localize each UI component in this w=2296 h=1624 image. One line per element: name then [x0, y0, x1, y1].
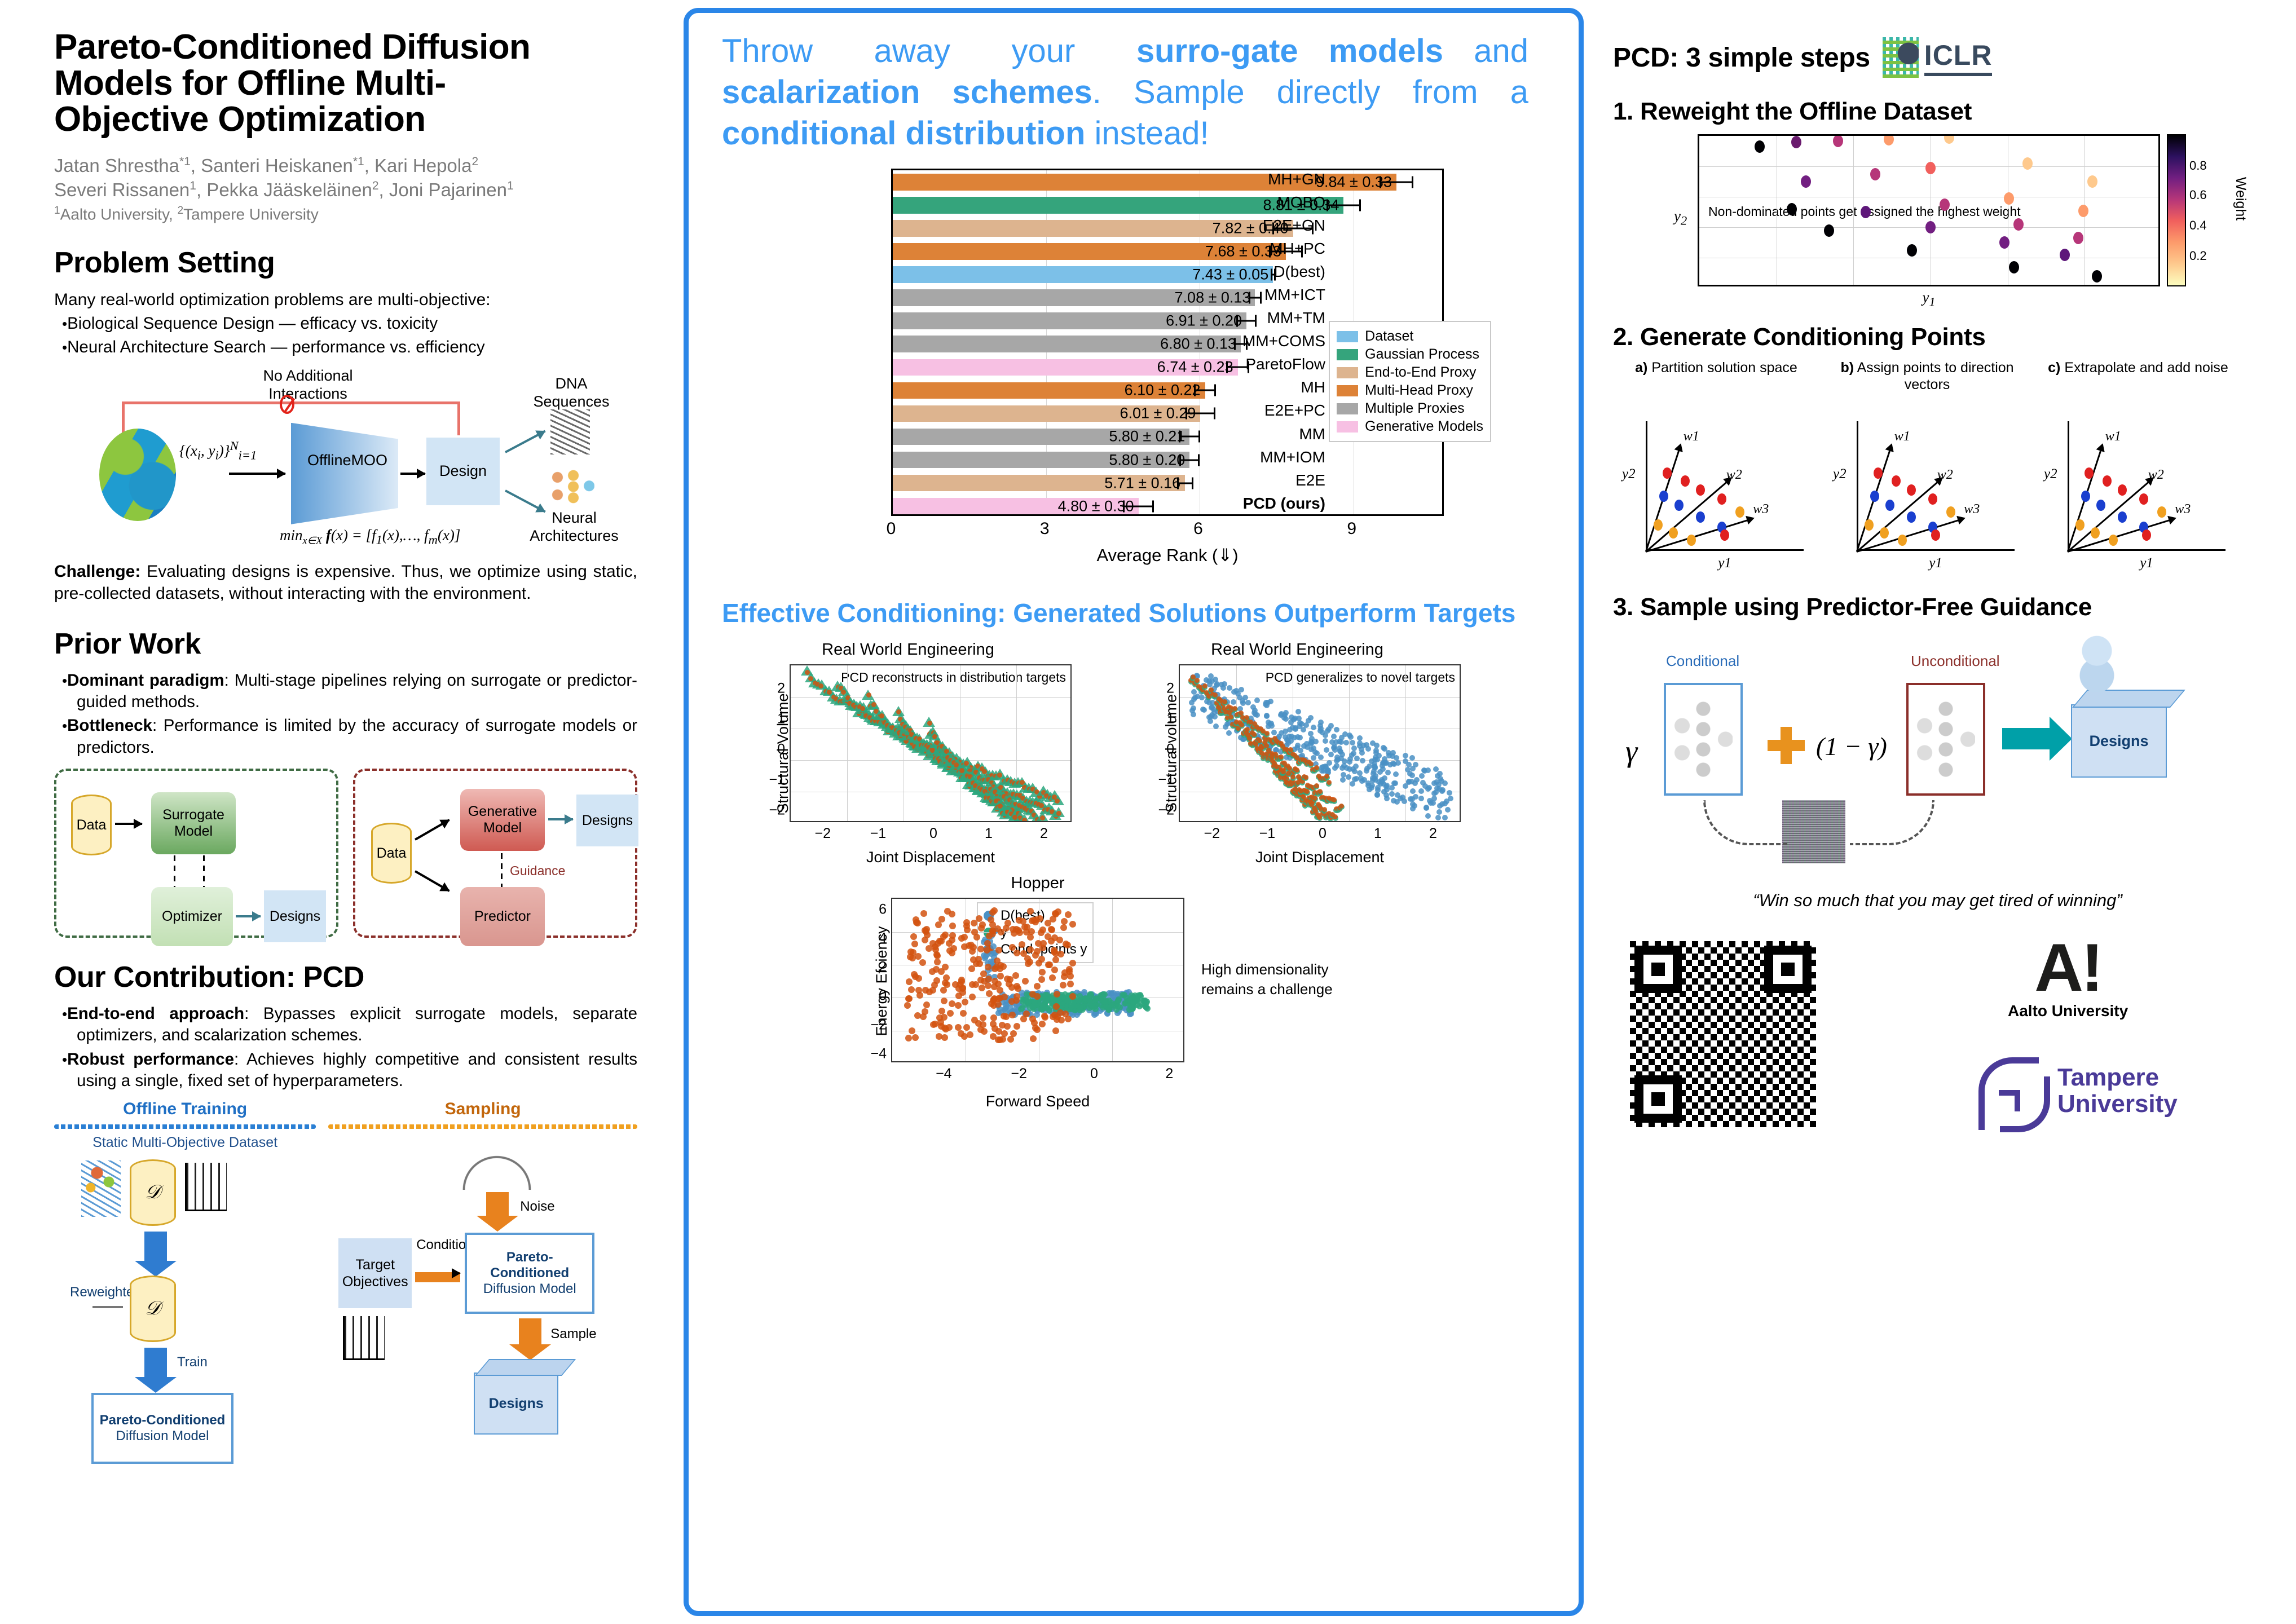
tampere-line-1: Tampere — [2057, 1064, 2178, 1091]
data-point — [1189, 700, 1195, 705]
data-point — [1034, 983, 1041, 990]
arrow-generative-to-designs — [548, 818, 573, 820]
xaxis-tick: −4 — [936, 1066, 952, 1082]
data-point — [911, 941, 918, 947]
data-point — [1287, 727, 1293, 732]
data-point — [1431, 791, 1437, 796]
list-item: Biological Sequence Design — efficacy vs… — [54, 313, 637, 334]
tampere-mark-icon — [1974, 1054, 2047, 1127]
designs-cube: Designs — [474, 1373, 558, 1435]
arrow-train — [144, 1348, 167, 1378]
dashed-arc-right — [1850, 800, 1934, 845]
yaxis-tick: 2 — [764, 681, 785, 697]
data-point — [1222, 699, 1227, 704]
heading-contribution: Our Contribution: PCD — [54, 960, 637, 994]
tampere-line-2: University — [2057, 1091, 2178, 1118]
pcd-pipeline-diagram: Offline Training Static Multi-Objective … — [54, 1101, 637, 1416]
data-point — [1039, 969, 1046, 976]
conditioning-points-figure: a) Partition solution space y2 y1 w1w2w3… — [1613, 359, 2250, 573]
data-point — [1332, 744, 1337, 749]
dataset-cylinder-icon: 𝒟 — [130, 1159, 176, 1226]
guidance-label: Guidance — [510, 863, 565, 879]
solution-point — [1865, 519, 1874, 531]
headline-part-bold-2: scalarization schemes — [722, 74, 1092, 111]
right-header: PCD: 3 simple steps ICLR — [1613, 37, 2262, 78]
data-point — [999, 1022, 1006, 1029]
offline-moo-shape — [291, 423, 398, 524]
data-point — [985, 976, 992, 982]
legend-entry: Multi-Head Proxy — [1337, 382, 1483, 399]
data-point — [1239, 722, 1244, 727]
data-point — [1425, 813, 1431, 819]
data-point — [1206, 714, 1212, 720]
neural-network-icon — [550, 468, 594, 505]
solution-point — [1696, 484, 1705, 496]
qr-code[interactable] — [1630, 941, 1816, 1127]
data-point — [1801, 175, 1811, 188]
bar-value-label: 7.43 ± 0.05 — [1192, 266, 1268, 284]
data-point — [1297, 720, 1303, 726]
generative-pipeline-box: Data Generative Model Designs Guidance P… — [353, 769, 637, 938]
data-point — [990, 1033, 997, 1040]
poster-root: Pareto-Conditioned Diffusion Models for … — [0, 0, 2296, 1624]
data-point — [1240, 700, 1246, 706]
data-point — [1009, 944, 1016, 951]
legend-entry: End-to-End Proxy — [1337, 364, 1483, 381]
panel-xlabel: y1 — [2068, 555, 2226, 571]
error-bar — [1186, 413, 1215, 414]
yaxis-tick: −2 — [764, 802, 785, 818]
bar-category-label: E2E — [1295, 471, 1325, 489]
data-point — [1232, 706, 1237, 711]
bar-value-label: 6.01 ± 0.29 — [1120, 405, 1196, 422]
scatter-annotation: PCD generalizes to novel targets — [1266, 669, 1455, 686]
data-point — [990, 997, 997, 1004]
data-point — [1294, 767, 1299, 773]
arrow-guidance — [501, 853, 503, 888]
data-point — [1016, 929, 1023, 936]
xaxis-tick: −2 — [815, 826, 831, 842]
left-column: Pareto-Conditioned Diffusion Models for … — [0, 0, 671, 1624]
data-point — [920, 910, 927, 917]
xaxis-tick: 0 — [929, 826, 937, 842]
scatter-annotation: PCD reconstructs in distribution targets — [841, 669, 1066, 686]
data-point — [949, 923, 956, 929]
plus-icon — [1768, 727, 1805, 764]
data-point — [1360, 758, 1365, 764]
model-subtitle: Diffusion Model — [483, 1281, 576, 1297]
offline-training-box: Static Multi-Objective Dataset 𝒟 Reweigh… — [54, 1124, 316, 1129]
error-bar — [1179, 459, 1200, 461]
sample-label: Sample — [550, 1326, 596, 1342]
data-point — [908, 986, 915, 993]
data-point — [1214, 682, 1219, 688]
data-point — [1787, 203, 1797, 215]
scales-icon — [92, 1306, 123, 1332]
data-point — [1264, 731, 1270, 736]
data-point — [1403, 783, 1408, 789]
data-point — [1925, 162, 1936, 174]
data-point — [1274, 764, 1279, 769]
legend-label: End-to-End Proxy — [1365, 364, 1476, 381]
data-point — [1295, 780, 1301, 785]
data-point — [1295, 709, 1301, 714]
legend-label: Dataset — [1365, 328, 1413, 345]
bar-value-label: 5.80 ± 0.21 — [1109, 428, 1185, 445]
data-point — [1308, 761, 1314, 766]
solution-point — [2118, 484, 2127, 496]
data-point — [1435, 815, 1441, 820]
solution-point — [1654, 519, 1663, 531]
data-point — [1755, 140, 1765, 153]
panel-xlabel: y1 — [1857, 555, 2015, 571]
panel-text: Assign points to direction vectors — [1857, 360, 2014, 393]
data-point — [997, 1036, 1003, 1043]
data-point — [1370, 740, 1376, 746]
yaxis-tick: 6 — [865, 901, 887, 917]
data-point — [1384, 796, 1390, 801]
panel-caption: b) Assign points to direction vectors — [1824, 359, 2030, 394]
data-point — [1348, 734, 1354, 740]
panel-ylabel: y2 — [2044, 466, 2057, 482]
gridline — [1777, 136, 1777, 286]
data-point — [1251, 732, 1257, 737]
data-point — [961, 943, 968, 950]
colorbar-tick: 0.2 — [2189, 249, 2207, 263]
vector-label: w1 — [1684, 429, 1699, 444]
error-bar — [1194, 390, 1217, 391]
aalto-name: Aalto University — [2008, 1002, 2128, 1020]
colorbar-tick: 0.6 — [2189, 188, 2207, 202]
network-nodes-icon — [1916, 697, 1975, 782]
yaxis-tick: 2 — [865, 959, 887, 976]
data-point — [2073, 232, 2083, 244]
legend-entry: Generative Models — [1337, 418, 1483, 435]
panel-xlabel: y1 — [1646, 555, 1804, 571]
data-point — [949, 1000, 955, 1007]
solution-point — [2085, 467, 2094, 479]
panel-text: Extrapolate and add noise — [2064, 360, 2228, 376]
heading-prior-work: Prior Work — [54, 627, 637, 661]
bar-category-label: ParetoFlow — [1245, 355, 1325, 373]
pareto-conditioned-model-box: Pareto-Conditioned Diffusion Model — [91, 1393, 233, 1464]
data-point — [932, 943, 938, 950]
solution-point — [1907, 484, 1916, 496]
data-point — [1061, 969, 1068, 976]
data-point — [1418, 796, 1424, 801]
data-point — [1030, 1035, 1037, 1042]
error-bar — [1380, 181, 1413, 183]
vector-label: w2 — [1726, 467, 1742, 483]
data-point — [1328, 752, 1334, 757]
xaxis-tick: 2 — [1165, 1066, 1173, 1082]
gridline — [1293, 665, 1293, 822]
data-point — [1100, 994, 1106, 1000]
data-point — [1057, 951, 1064, 957]
data-point — [1245, 700, 1251, 705]
scatter-title: Real World Engineering — [722, 641, 1094, 659]
panel-caption: c) Extrapolate and add noise — [2035, 359, 2241, 377]
data-point — [1314, 783, 1319, 788]
molecule-dna-icon — [81, 1160, 121, 1217]
middle-column: Throw away your surro-gate models and sc… — [671, 0, 1596, 1624]
data-point — [1824, 224, 1834, 237]
iclr-mark-icon — [1883, 37, 1919, 78]
solution-point — [2103, 475, 2112, 487]
bar-chart-xaxis-label: Average Rank (⇓) — [891, 545, 1444, 566]
data-point — [1347, 756, 1353, 762]
data-point — [991, 907, 998, 914]
data-point — [1279, 754, 1284, 760]
data-point — [2087, 175, 2097, 188]
hopper-plot-area: D(best)yCond. points y — [891, 898, 1184, 1062]
gridline — [1112, 899, 1113, 1062]
data-point — [1791, 136, 1801, 148]
model-name: Pareto-Conditioned — [467, 1250, 592, 1281]
target-objectives-box: Target Objectives — [338, 1238, 412, 1308]
data-point — [923, 1001, 930, 1008]
data-point — [1312, 796, 1317, 801]
colorbar-label: Weight — [2232, 177, 2249, 220]
tampere-logo: Tampere University — [1974, 1054, 2178, 1127]
data-point — [1063, 941, 1069, 947]
model-subtitle: Diffusion Model — [116, 1428, 209, 1444]
bar-category-label: MOBO — [1277, 193, 1325, 211]
data-point — [1056, 937, 1063, 943]
data-point — [2013, 218, 2024, 231]
data-point — [935, 921, 942, 928]
data-point — [1395, 760, 1401, 766]
unconditional-label: Unconditional — [1911, 652, 2000, 670]
panel-tag: b) — [1840, 360, 1854, 376]
data-point — [1269, 723, 1275, 729]
data-point — [1038, 976, 1045, 983]
data-point — [1303, 775, 1308, 780]
problem-intro: Many real-world optimization problems ar… — [54, 289, 637, 311]
data-point — [1264, 713, 1270, 718]
right-column: PCD: 3 simple steps ICLR 1. Reweight the… — [1596, 0, 2296, 1624]
data-point — [1369, 758, 1374, 764]
step-2-heading: 2. Generate Conditioning Points — [1613, 324, 2262, 351]
data-point — [961, 1033, 968, 1040]
yaxis-tick: −1 — [1153, 771, 1174, 788]
arrow-data-to-surrogate — [115, 823, 142, 825]
vector-label: w2 — [2148, 467, 2164, 483]
data-point — [986, 933, 993, 939]
bar-value-label: 5.80 ± 0.20 — [1109, 451, 1185, 469]
data-point — [1382, 775, 1387, 781]
reweight-ylabel: y2 — [1674, 208, 1687, 228]
bar-row: 7.68 ± 0.33 — [893, 243, 1446, 260]
network-nodes-icon — [1674, 697, 1733, 782]
legend-swatch — [1337, 331, 1358, 342]
data-point — [1351, 751, 1356, 756]
data-point — [1279, 711, 1284, 717]
data-point — [1213, 677, 1218, 682]
neural-architectures-label: NeuralArchitectures — [518, 509, 631, 545]
data-point — [1115, 998, 1121, 1004]
data-point — [942, 964, 949, 970]
solution-point — [2091, 527, 2100, 539]
arrow-sample — [519, 1318, 541, 1345]
legend-swatch — [1337, 367, 1358, 378]
authors-line-1: Jatan Shrestha*1, Santeri Heiskanen*1, K… — [54, 153, 637, 178]
tampere-square — [1999, 1090, 2020, 1111]
data-point — [1383, 760, 1389, 766]
aalto-logo: A! Aalto University — [2008, 935, 2128, 1020]
data-point — [1025, 999, 1032, 1005]
data-point — [1042, 1014, 1048, 1021]
gamma-symbol: γ — [1625, 734, 1637, 769]
data-point — [1380, 766, 1386, 772]
data-point — [1067, 981, 1074, 987]
vector-label: w3 — [1964, 502, 1980, 517]
gridline — [1699, 197, 2160, 197]
scatter-plot-area: PCD generalizes to novel targets — [1179, 664, 1461, 822]
average-rank-bar-chart: 9.84 ± 0.338.81 ± 0.347.82 ± 0.407.68 ± … — [722, 169, 1500, 569]
arrow-reweight — [144, 1232, 167, 1262]
data-point — [1393, 771, 1399, 777]
arrow-surrogate-to-optimizer — [203, 855, 205, 888]
arrow-moo-to-design — [400, 473, 425, 475]
data-point — [1038, 929, 1045, 936]
list-item: Bottleneck: Performance is limited by th… — [54, 715, 637, 758]
step2-panel-a: a) Partition solution space y2 y1 w1w2w3 — [1613, 359, 1819, 573]
data-point — [1365, 780, 1371, 786]
step2-panel-c: c) Extrapolate and add noise y2 y1 w1w2w… — [2035, 359, 2241, 573]
challenge-label: Challenge: — [54, 562, 140, 581]
tampere-name: Tampere University — [2057, 1064, 2178, 1118]
data-point — [931, 982, 938, 988]
bar-category-label: MH+PC — [1270, 240, 1325, 258]
title-line-1: Pareto-Conditioned Diffusion — [54, 29, 637, 65]
data-point — [1409, 755, 1415, 761]
data-point — [1106, 1007, 1112, 1013]
problem-bullets: Biological Sequence Design — efficacy vs… — [54, 313, 637, 359]
data-point — [1318, 720, 1324, 725]
contribution-bullets: End-to-end approach: Bypasses explicit s… — [54, 1003, 637, 1092]
data-point — [962, 999, 968, 1005]
data-point — [1884, 134, 1894, 145]
data-point — [1442, 815, 1448, 820]
data-point — [1027, 946, 1034, 953]
data-point — [1291, 717, 1297, 722]
data-point — [1053, 1003, 1060, 1010]
solution-point — [1874, 467, 1883, 479]
authors-line-2: Severi Rissanen1, Pekka Jääskeläinen2, J… — [54, 178, 637, 202]
scatter-xlabel: Joint Displacement — [1179, 849, 1461, 866]
aalto-mark: A! — [2008, 935, 2128, 1000]
data-point — [1231, 699, 1236, 705]
data-point — [1354, 756, 1360, 761]
data-point — [924, 932, 931, 938]
solution-point — [1892, 475, 1901, 487]
data-point — [1410, 766, 1416, 771]
qr-eye-bottomleft — [1634, 1075, 1682, 1123]
data-point — [979, 985, 985, 991]
data-point — [961, 934, 968, 941]
data-point — [2078, 205, 2088, 217]
data-point — [929, 968, 936, 975]
data-point — [1398, 796, 1403, 801]
data-point — [1334, 763, 1339, 769]
bar-value-label: 6.91 ± 0.20 — [1166, 312, 1242, 330]
problem-setting-diagram: No Additional Interactions {(xi, yi)}Ni=… — [54, 367, 637, 558]
vector-label: w3 — [2175, 502, 2191, 517]
data-point — [986, 990, 993, 997]
data-point — [1430, 800, 1436, 806]
step-1-heading: 1. Reweight the Offline Dataset — [1613, 98, 2262, 125]
data-point — [1042, 1005, 1048, 1011]
yaxis-tick: 0 — [865, 988, 887, 1004]
data-point — [963, 1024, 970, 1031]
data-point — [1373, 748, 1379, 753]
data-point — [1323, 732, 1328, 738]
vector-label: w2 — [1937, 467, 1953, 483]
data-point — [1050, 916, 1056, 923]
data-point — [1015, 985, 1021, 992]
bar-category-label: MM+IOM — [1260, 448, 1325, 466]
design-box: Design — [426, 438, 500, 505]
data-point — [1065, 1016, 1072, 1022]
colorbar-tick: 0.4 — [2189, 218, 2207, 233]
xaxis-tick: 1 — [985, 826, 993, 842]
step2-panel-b: b) Assign points to direction vectors y2… — [1824, 359, 2030, 573]
data-point — [937, 1019, 944, 1026]
data-point — [912, 1034, 919, 1041]
error-bar — [1236, 320, 1257, 322]
designs-node: Designs — [264, 890, 326, 942]
title-line-2: Models for Offline Multi- — [54, 65, 637, 101]
data-point — [1060, 982, 1067, 988]
xaxis-tick: −2 — [1204, 826, 1220, 842]
bar-value-label: 5.71 ± 0.16 — [1104, 474, 1180, 492]
data-point — [955, 992, 962, 999]
yaxis-tick: 0 — [764, 741, 785, 757]
data-point — [1049, 974, 1056, 981]
globe-icon — [99, 429, 176, 521]
data-point — [1226, 730, 1232, 736]
data-point — [977, 1026, 984, 1033]
data-point — [1412, 780, 1418, 786]
data-point — [1268, 699, 1273, 704]
data-point — [1391, 798, 1396, 804]
bar-value-label: 6.10 ± 0.22 — [1125, 382, 1201, 399]
data-point — [1092, 996, 1099, 1003]
data-point — [969, 994, 976, 1000]
data-point — [2009, 261, 2019, 273]
data-point — [1445, 807, 1451, 813]
data-point — [1324, 747, 1329, 753]
data-point — [1424, 805, 1429, 811]
sampling-header: Sampling — [328, 1100, 637, 1119]
data-point — [1023, 929, 1030, 935]
xaxis-tick: 2 — [1040, 826, 1048, 842]
data-point — [1323, 738, 1328, 744]
data-point — [909, 1027, 915, 1034]
legend-swatch — [1337, 385, 1358, 396]
data-point — [1251, 710, 1257, 716]
data-point — [1337, 739, 1342, 744]
data-point — [995, 947, 1002, 954]
legend-label: Multiple Proxies — [1365, 400, 1464, 417]
data-point — [1037, 915, 1043, 922]
data-point — [1327, 780, 1332, 785]
data-point — [1425, 786, 1431, 792]
bar-row: 5.71 ± 0.16 — [893, 475, 1446, 492]
data-point — [1944, 134, 1954, 144]
legend-label: Generative Models — [1365, 418, 1483, 435]
